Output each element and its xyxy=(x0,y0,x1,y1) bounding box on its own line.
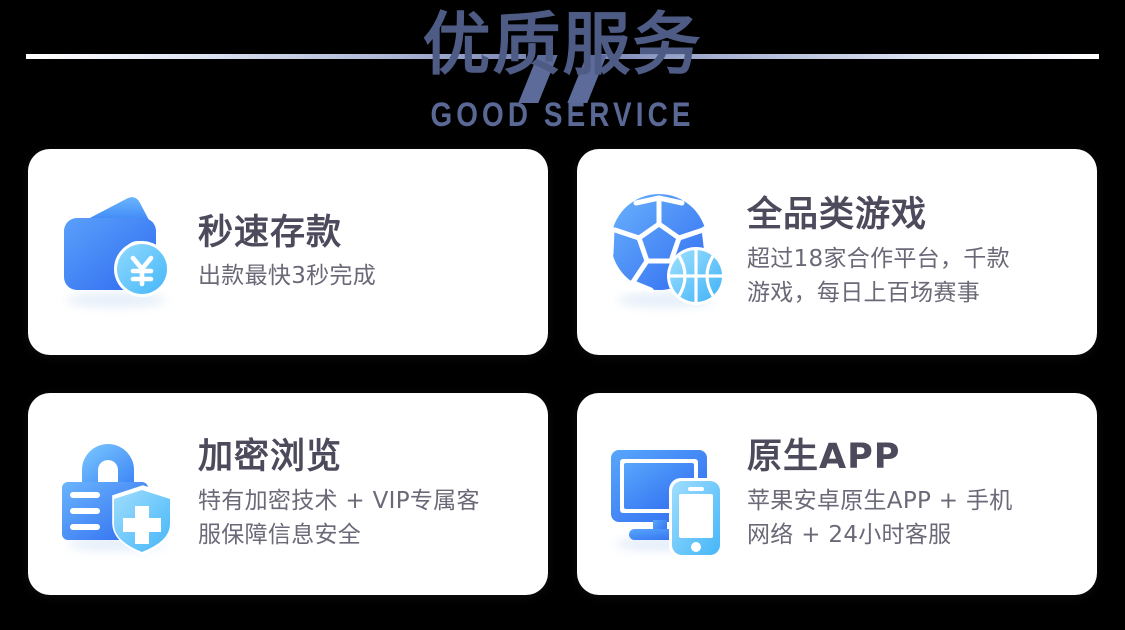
feature-card-desc-line: 苹果安卓原生APP + 手机 xyxy=(747,484,1075,518)
page-subtitle: GOOD SERVICE xyxy=(101,96,1024,134)
feature-card-desc: 特有加密技术 + VIP专属客 服保障信息安全 xyxy=(198,484,526,552)
feature-card-desc: 苹果安卓原生APP + 手机 网络 + 24小时客服 xyxy=(747,484,1075,552)
feature-card[interactable]: 全品类游戏 超过18家合作平台，千款 游戏，每日上百场赛事 xyxy=(577,149,1097,355)
feature-card-desc: 超过18家合作平台，千款 游戏，每日上百场赛事 xyxy=(747,242,1075,310)
feature-card-desc-line: 服保障信息安全 xyxy=(198,518,526,552)
page-header: 优质服务 GOOD SERVICE xyxy=(0,0,1125,140)
soccer-basketball-icon xyxy=(603,186,735,318)
feature-card-desc-line: 超过18家合作平台，千款 xyxy=(747,242,1075,276)
feature-card[interactable]: 秒速存款 出款最快3秒完成 xyxy=(28,149,548,355)
feature-card-text: 原生APP 苹果安卓原生APP + 手机 网络 + 24小时客服 xyxy=(735,436,1075,552)
feature-card-text: 全品类游戏 超过18家合作平台，千款 游戏，每日上百场赛事 xyxy=(735,194,1075,310)
page-title: 优质服务 xyxy=(0,8,1125,84)
wallet-yen-icon xyxy=(54,186,186,318)
feature-card-title: 全品类游戏 xyxy=(747,194,1075,236)
feature-card-text: 加密浏览 特有加密技术 + VIP专属客 服保障信息安全 xyxy=(186,436,526,552)
feature-card[interactable]: 加密浏览 特有加密技术 + VIP专属客 服保障信息安全 xyxy=(28,393,548,595)
feature-card-desc-line: 网络 + 24小时客服 xyxy=(747,518,1075,552)
feature-card-desc: 出款最快3秒完成 xyxy=(198,260,526,293)
feature-card-title: 原生APP xyxy=(747,436,1075,478)
feature-card-desc-line: 出款最快3秒完成 xyxy=(198,260,526,293)
feature-card-grid: 秒速存款 出款最快3秒完成 xyxy=(28,149,1097,595)
lock-shield-icon xyxy=(54,428,186,560)
feature-card-text: 秒速存款 出款最快3秒完成 xyxy=(186,212,526,293)
feature-card-title: 加密浏览 xyxy=(198,436,526,478)
feature-card-desc-line: 游戏，每日上百场赛事 xyxy=(747,276,1075,310)
feature-card-desc-line: 特有加密技术 + VIP专属客 xyxy=(198,484,526,518)
feature-card-title: 秒速存款 xyxy=(198,212,526,254)
feature-card[interactable]: 原生APP 苹果安卓原生APP + 手机 网络 + 24小时客服 xyxy=(577,393,1097,595)
monitor-phone-icon xyxy=(603,428,735,560)
